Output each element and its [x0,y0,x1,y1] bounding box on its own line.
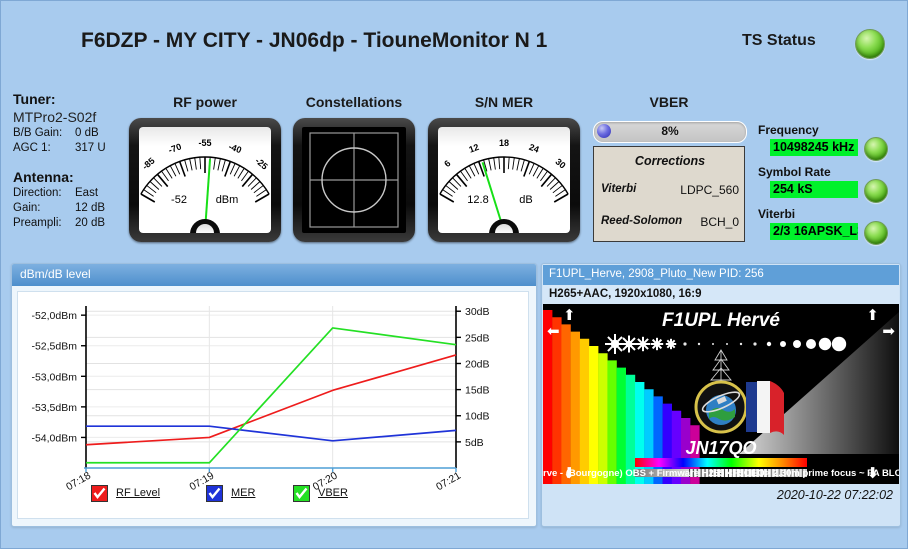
symbol-rate-label: Symbol Rate [758,165,831,179]
svg-text:12.8: 12.8 [467,194,488,206]
svg-text:-55: -55 [198,138,211,148]
legend-label-rf-level: RF Level [116,487,160,499]
svg-text:-53,5dBm: -53,5dBm [31,402,77,414]
info-row: Gain: 12 dB [13,201,131,215]
chart-panel-title: dBm/dB level [12,264,536,286]
reed-solomon-value: BCH_0 [700,215,739,229]
page-title: F6DZP - MY CITY - JN06dp - TiouneMonitor… [81,29,547,53]
info-row: Direction: East [13,186,131,200]
svg-text:15dB: 15dB [465,385,490,397]
tuner-heading: Tuner: [13,91,131,107]
reed-solomon-label: Reed-Solomon [601,215,682,227]
svg-text:-52,5dBm: -52,5dBm [31,341,77,353]
svg-text:-40: -40 [227,141,243,155]
tuner-info-block: Tuner: MTPro2-S02f B/B Gain: 0 dB AGC 1:… [13,91,131,230]
svg-text:24: 24 [528,142,541,155]
antenna-preampli-value: 20 dB [75,216,129,230]
viterbi-corr-label: Viterbi [601,183,636,195]
svg-text:-54,0dBm: -54,0dBm [31,432,77,444]
constellation-display [293,118,415,242]
chart-panel: dBm/dB level -52,0dBm-52,5dBm-53,0dBm-53… [11,263,537,527]
corrections-box: Corrections Viterbi LDPC_560 Reed-Solomo… [593,146,745,242]
legend-checkbox-rf-level[interactable] [91,485,108,502]
video-stream-header: F1UPL_Herve, 2908_Pluto_New PID: 256 [543,265,899,285]
svg-text:JN17QO: JN17QO [685,438,756,458]
svg-text:-53,0dBm: -53,0dBm [31,371,77,383]
viterbi-lock-led [864,221,888,245]
constellations-title: Constellations [293,94,415,110]
antenna-gain-value: 12 dB [75,201,129,215]
svg-text:18: 18 [499,138,509,148]
svg-text:25dB: 25dB [465,332,490,344]
arrow-down-left-icon: ⬇ [563,464,576,482]
frequency-lock-led [864,137,888,161]
arrow-up-left-icon: ⬆ [563,306,576,324]
svg-text:12: 12 [467,142,480,155]
bb-gain-value: 0 dB [75,126,129,140]
video-panel: F1UPL_Herve, 2908_Pluto_New PID: 256 H26… [541,263,901,527]
svg-text:30dB: 30dB [465,306,490,318]
vber-title: VBER [593,94,745,110]
rf-power-title: RF power [129,94,281,110]
viterbi-value: 2/3 16APSK_L3 [770,223,858,240]
legend-label-mer: MER [231,487,255,499]
antenna-gain-label: Gain: [13,201,75,215]
frequency-label: Frequency [758,123,819,137]
arrow-up-right-icon: ⬆ [866,306,879,324]
app-header: F6DZP - MY CITY - JN06dp - TiouneMonitor… [1,1,908,79]
legend-checkbox-vber[interactable] [293,485,310,502]
svg-text:30: 30 [554,157,568,171]
video-timestamp: 2020-10-22 07:22:02 [543,486,893,506]
antenna-direction-value: East [75,186,129,200]
svg-text:dB: dB [519,194,532,206]
svg-text:-85: -85 [140,156,156,172]
sn-mer-meter-face: 061218243036 12.8 dB [438,127,570,233]
info-row: B/B Gain: 0 dB [13,126,131,140]
bb-gain-label: B/B Gain: [13,126,75,140]
svg-text:20dB: 20dB [465,358,490,370]
tuner-model: MTPro2-S02f [13,109,131,125]
vber-progress-bar: 8% [593,121,747,143]
antenna-preampli-label: Preampli: [13,216,75,230]
legend-checkbox-mer[interactable] [206,485,223,502]
video-preview[interactable]: F1UPL Hervé JN17QO rve - (Bourgogne) OBS… [543,304,899,484]
sn-mer-title: S/N MER [428,94,580,110]
ts-status-label: TS Status [742,32,816,50]
vber-percent-label: 8% [594,124,746,138]
svg-text:-25: -25 [253,156,269,172]
chart-legend: RF Level MER VBER [36,485,516,507]
arrow-down-right-icon: ⬇ [866,464,879,482]
tiounemonitor-window: F6DZP - MY CITY - JN06dp - TiouneMonitor… [0,0,908,549]
arrow-left-icon: ⬅ [547,322,560,340]
viterbi-corr-value: LDPC_560 [680,183,739,197]
svg-text:-52,0dBm: -52,0dBm [31,310,77,322]
legend-label-vber: VBER [318,487,348,499]
agc1-value: 317 U [75,141,129,155]
viterbi-label: Viterbi [758,207,795,221]
frequency-value: 10498245 kHz [770,139,858,156]
symbol-rate-lock-led [864,179,888,203]
rf-power-meter: -100-85-70-55-40-25-10 -52 dBm [129,118,281,242]
svg-text:-70: -70 [167,141,183,155]
svg-text:5dB: 5dB [465,437,484,449]
chart-plot-area: -52,0dBm-52,5dBm-53,0dBm-53,5dBm-54,0dBm… [17,291,529,519]
sn-mer-gauge-svg: 061218243036 12.8 dB [438,127,570,233]
sn-mer-meter: 061218243036 12.8 dB [428,118,580,242]
svg-text:10dB: 10dB [465,411,490,423]
antenna-direction-label: Direction: [13,186,75,200]
info-row: AGC 1: 317 U [13,141,131,155]
svg-text:-52: -52 [171,194,187,206]
constellation-svg [302,127,406,233]
svg-text:F1UPL Hervé: F1UPL Hervé [662,310,780,331]
video-ticker-text: rve - (Bourgogne) OBS + Firmware H265 <F… [543,466,899,481]
arrow-right-icon: ➡ [882,322,895,340]
ts-status-led [855,29,885,59]
rf-power-meter-face: -100-85-70-55-40-25-10 -52 dBm [139,127,271,233]
antenna-heading: Antenna: [13,169,131,185]
rf-power-gauge-svg: -100-85-70-55-40-25-10 -52 dBm [139,127,271,233]
agc1-label: AGC 1: [13,141,75,155]
video-frame-svg: F1UPL Hervé JN17QO [543,304,899,484]
symbol-rate-value: 254 kS [770,181,858,198]
info-row: Preampli: 20 dB [13,216,131,230]
svg-text:6: 6 [442,158,452,169]
corrections-title: Corrections [594,154,746,168]
svg-text:dBm: dBm [216,194,239,206]
video-stream-format: H265+AAC, 1920x1080, 16:9 [543,285,899,304]
constellation-canvas [302,127,406,233]
